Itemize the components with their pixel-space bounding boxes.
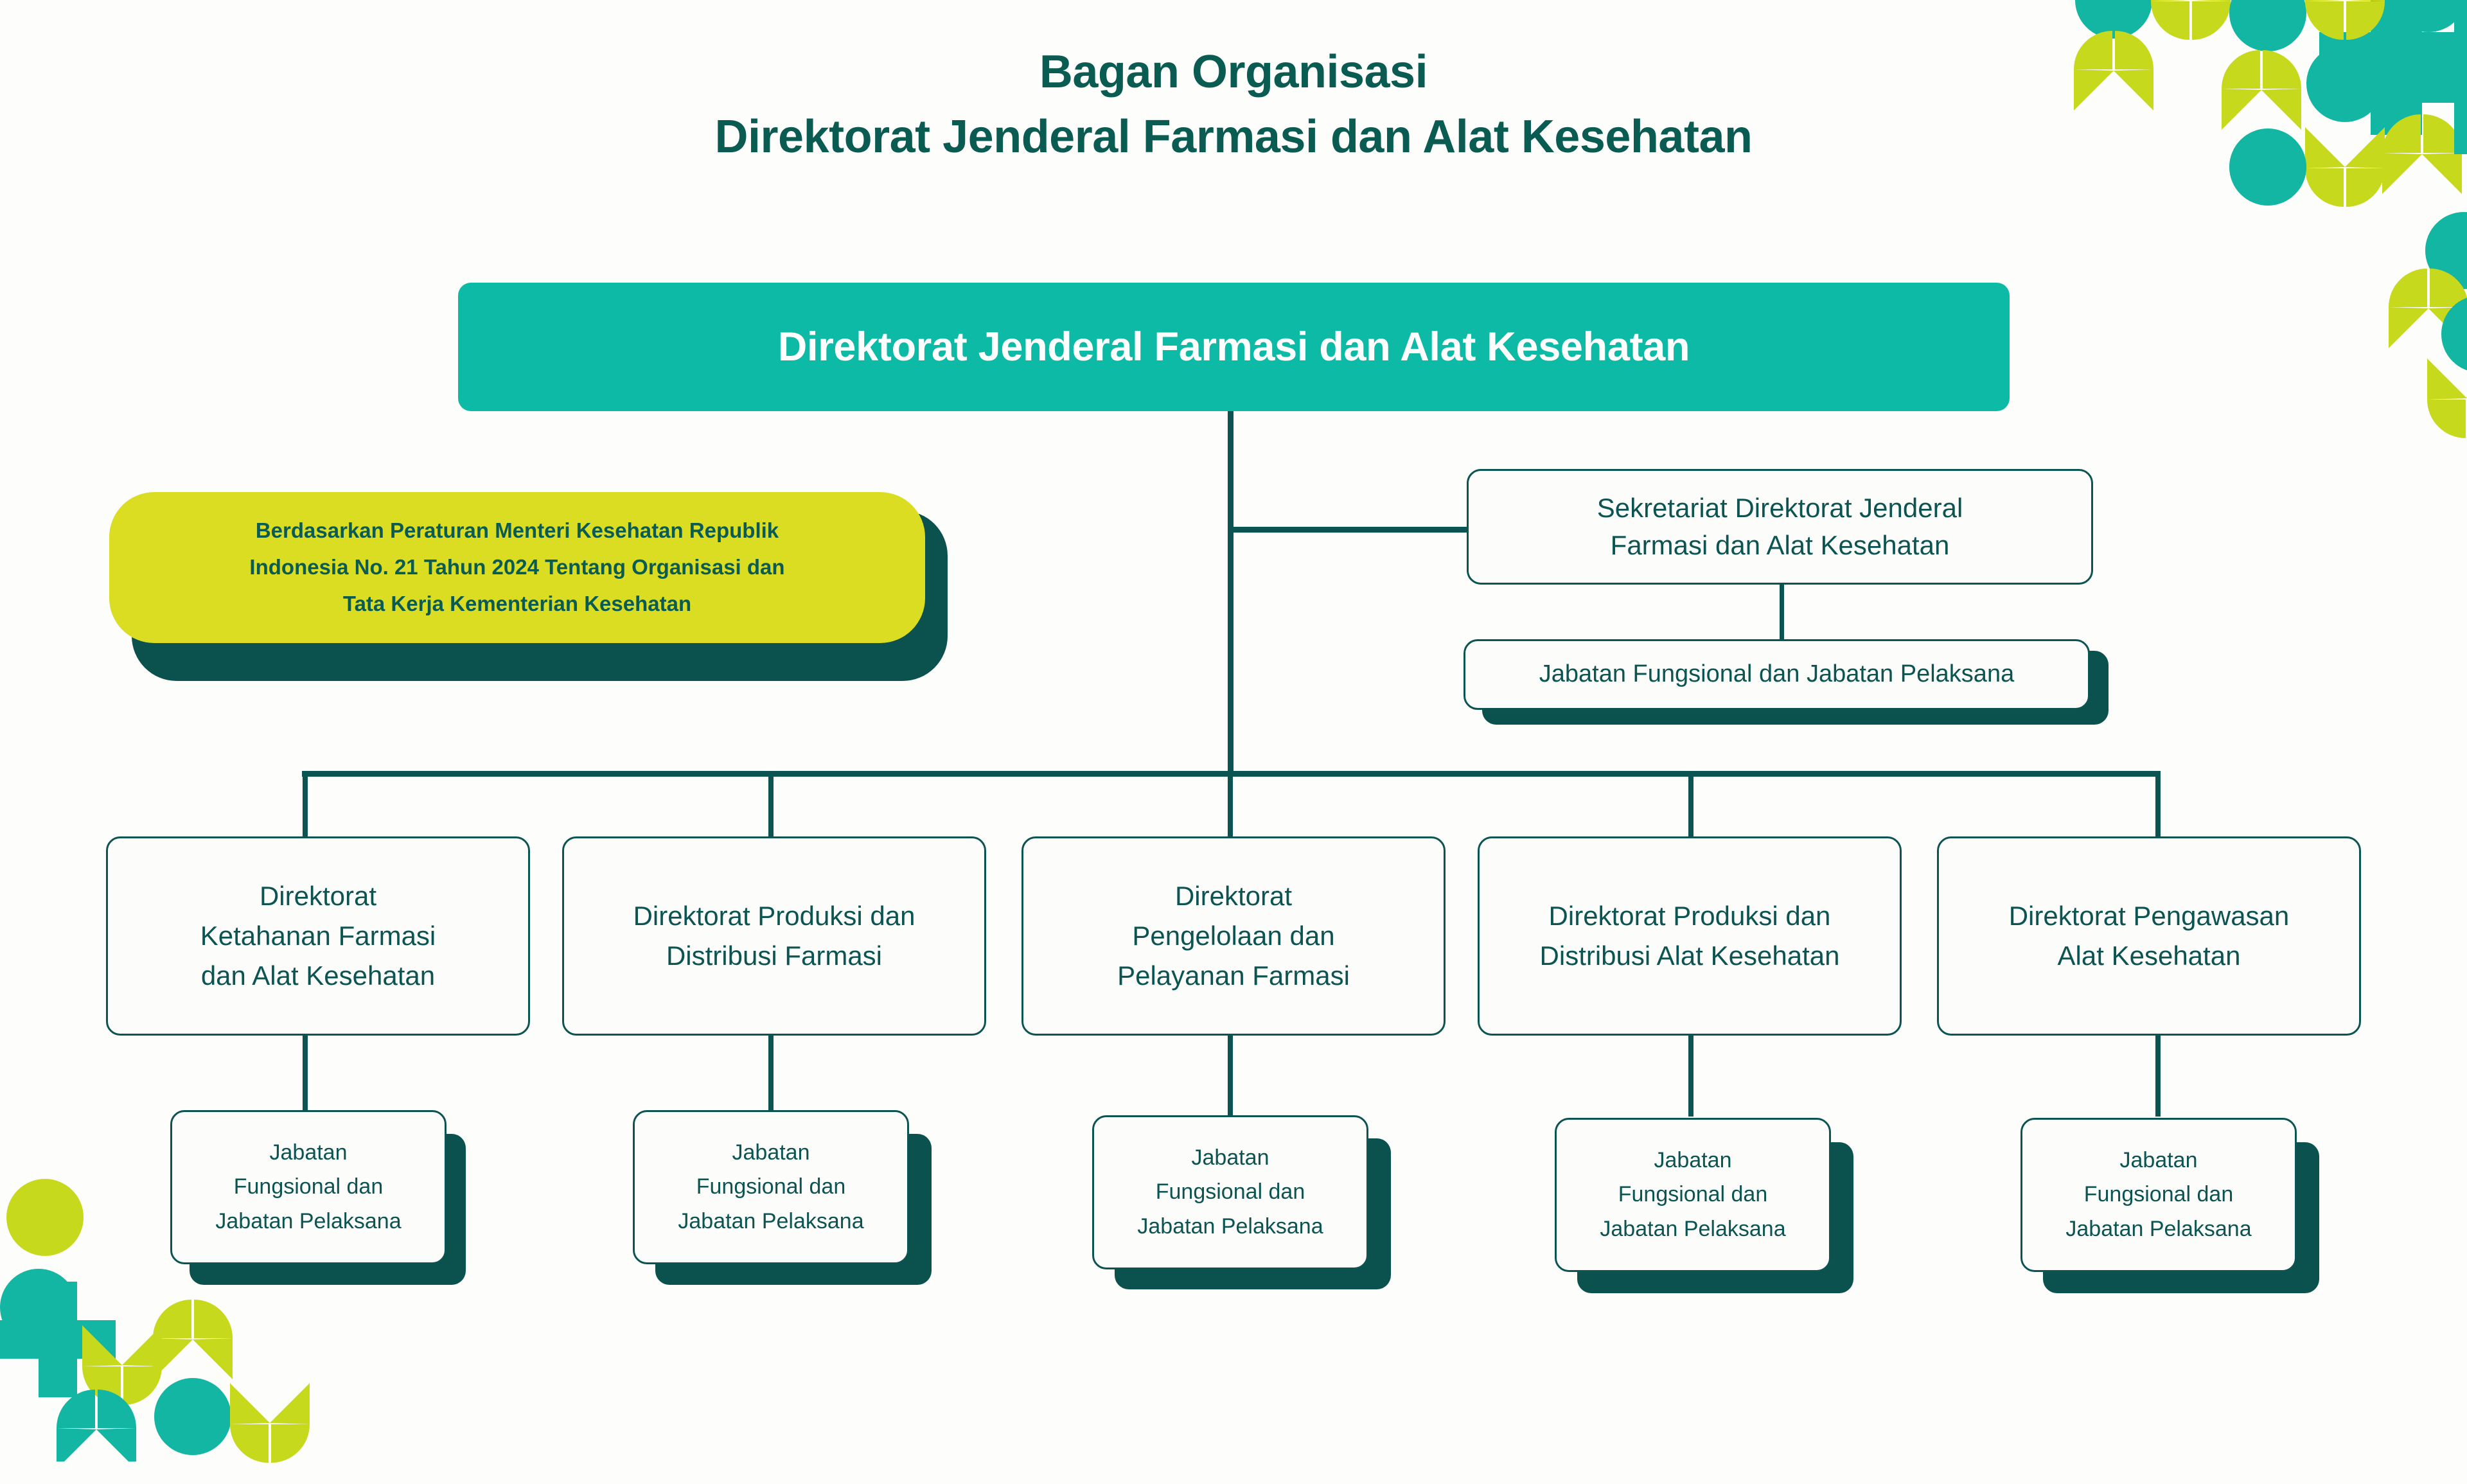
connector-child-drop-3 bbox=[1228, 1033, 1233, 1115]
connector-drop-2 bbox=[768, 771, 774, 840]
secretariat-node[interactable]: Sekretariat Direktorat Jenderal Farmasi … bbox=[1467, 469, 2093, 585]
jabatan-node-5[interactable]: Jabatan Fungsional dan Jabatan Pelaksana bbox=[2020, 1118, 2297, 1272]
connector-secretariat-branch bbox=[1228, 527, 1467, 533]
directorate-node-2[interactable]: Direktorat Produksi dan Distribusi Farma… bbox=[562, 836, 986, 1036]
directorate-label-5: Direktorat Pengawasan Alat Kesehatan bbox=[2009, 896, 2290, 976]
connector-drop-1 bbox=[303, 771, 308, 840]
connector-drop-4 bbox=[1688, 771, 1693, 840]
directorate-node-1[interactable]: Direktorat Ketahanan Farmasi dan Alat Ke… bbox=[106, 836, 530, 1036]
connector-child-drop-5 bbox=[2155, 1033, 2161, 1117]
jabatan-label-5: Jabatan Fungsional dan Jabatan Pelaksana bbox=[2065, 1144, 2251, 1246]
org-chart-canvas: Bagan Organisasi Direktorat Jenderal Far… bbox=[0, 0, 2467, 1388]
directorate-label-1: Direktorat Ketahanan Farmasi dan Alat Ke… bbox=[200, 876, 436, 996]
secretariat-child-label: Jabatan Fungsional dan Jabatan Pelaksana bbox=[1539, 658, 2014, 690]
connector-drop-5 bbox=[2155, 771, 2161, 840]
directorate-label-4: Direktorat Produksi dan Distribusi Alat … bbox=[1540, 896, 1840, 976]
connector-child-drop-1 bbox=[303, 1033, 308, 1110]
directorate-node-5[interactable]: Direktorat Pengawasan Alat Kesehatan bbox=[1937, 836, 2361, 1036]
root-node-direktorat-jenderal[interactable]: Direktorat Jenderal Farmasi dan Alat Kes… bbox=[458, 283, 2010, 411]
secretariat-child-node[interactable]: Jabatan Fungsional dan Jabatan Pelaksana bbox=[1463, 639, 2090, 710]
directorate-node-4[interactable]: Direktorat Produksi dan Distribusi Alat … bbox=[1478, 836, 1902, 1036]
jabatan-node-4[interactable]: Jabatan Fungsional dan Jabatan Pelaksana bbox=[1555, 1118, 1831, 1272]
connector-child-drop-4 bbox=[1688, 1033, 1693, 1117]
connector-child-drop-2 bbox=[768, 1033, 774, 1110]
jabatan-label-4: Jabatan Fungsional dan Jabatan Pelaksana bbox=[1600, 1144, 1785, 1246]
jabatan-node-2[interactable]: Jabatan Fungsional dan Jabatan Pelaksana bbox=[633, 1110, 909, 1264]
jabatan-label-1: Jabatan Fungsional dan Jabatan Pelaksana bbox=[215, 1136, 401, 1238]
regulation-note-label: Berdasarkan Peraturan Menteri Kesehatan … bbox=[249, 513, 784, 622]
page-title-line2: Direktorat Jenderal Farmasi dan Alat Kes… bbox=[0, 111, 2467, 163]
jabatan-node-1[interactable]: Jabatan Fungsional dan Jabatan Pelaksana bbox=[170, 1110, 447, 1264]
jabatan-label-3: Jabatan Fungsional dan Jabatan Pelaksana bbox=[1137, 1141, 1323, 1243]
connector-drop-3 bbox=[1228, 771, 1233, 840]
connector-root-trunk bbox=[1228, 410, 1233, 776]
page-title-line1: Bagan Organisasi bbox=[0, 46, 2467, 98]
page-title: Bagan Organisasi Direktorat Jenderal Far… bbox=[0, 46, 2467, 163]
regulation-note: Berdasarkan Peraturan Menteri Kesehatan … bbox=[109, 492, 925, 643]
secretariat-label: Sekretariat Direktorat Jenderal Farmasi … bbox=[1597, 490, 1963, 564]
directorate-label-2: Direktorat Produksi dan Distribusi Farma… bbox=[633, 896, 915, 976]
directorate-label-3: Direktorat Pengelolaan dan Pelayanan Far… bbox=[1117, 876, 1350, 996]
batik-ornament-bottom-left-small bbox=[116, 1275, 328, 1484]
jabatan-label-2: Jabatan Fungsional dan Jabatan Pelaksana bbox=[678, 1136, 863, 1238]
connector-secretariat-child bbox=[1780, 585, 1784, 639]
root-node-label: Direktorat Jenderal Farmasi dan Alat Kes… bbox=[778, 324, 1690, 370]
directorate-node-3[interactable]: Direktorat Pengelolaan dan Pelayanan Far… bbox=[1021, 836, 1446, 1036]
jabatan-node-3[interactable]: Jabatan Fungsional dan Jabatan Pelaksana bbox=[1092, 1115, 1368, 1269]
